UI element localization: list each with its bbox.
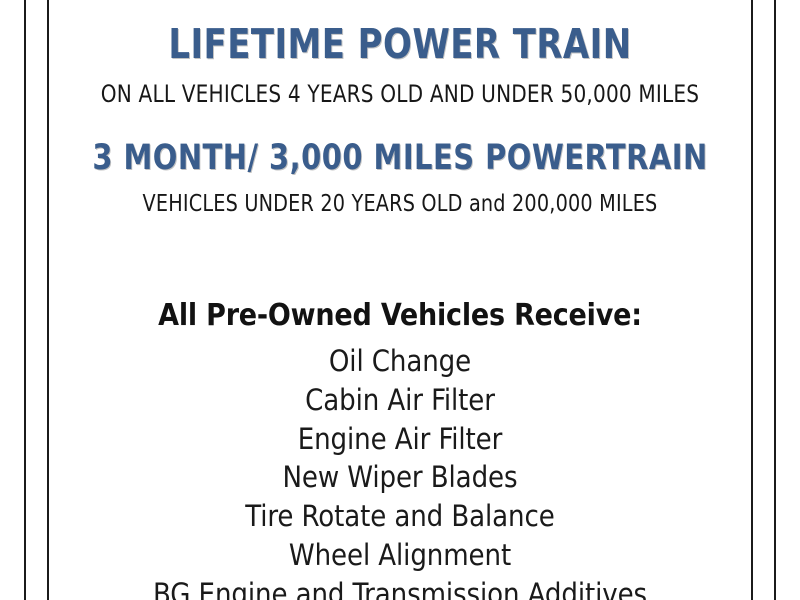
left-outer-border-rule — [24, 0, 26, 600]
services-list: Oil Change Cabin Air Filter Engine Air F… — [49, 342, 751, 600]
offer-subtitle-lifetime-powertrain: ON ALL VEHICLES 4 YEARS OLD AND UNDER 50… — [74, 82, 727, 106]
right-outer-border-rule — [774, 0, 776, 600]
services-section-title: All Pre-Owned Vehicles Receive: — [49, 301, 751, 331]
offer-headline-lifetime-powertrain: LIFETIME POWER TRAIN — [77, 24, 723, 65]
list-item: New Wiper Blades — [49, 458, 751, 497]
list-item: BG Engine and Transmission Additives — [49, 575, 751, 600]
flyer-page: LIFETIME POWER TRAIN ON ALL VEHICLES 4 Y… — [0, 0, 800, 600]
list-item: Engine Air Filter — [49, 420, 751, 459]
list-item: Cabin Air Filter — [49, 381, 751, 420]
offer-subtitle-3month-powertrain: VEHICLES UNDER 20 YEARS OLD and 200,000 … — [74, 193, 727, 216]
list-item: Tire Rotate and Balance — [49, 497, 751, 536]
offer-headline-3month-powertrain: 3 MONTH/ 3,000 MILES POWERTRAIN — [77, 141, 723, 176]
list-item: Oil Change — [49, 342, 751, 381]
right-inner-border-rule — [751, 0, 753, 600]
list-item: Wheel Alignment — [49, 536, 751, 575]
